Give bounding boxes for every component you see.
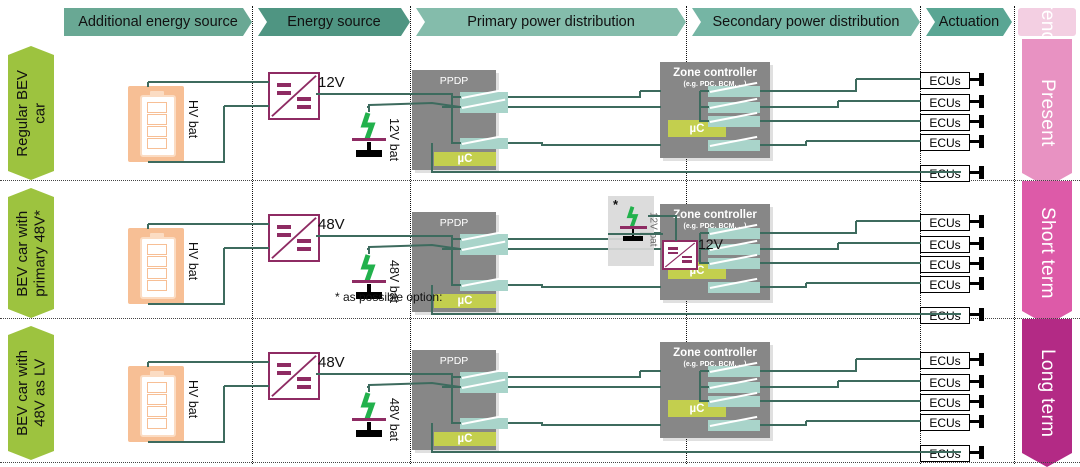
battery-icon [140,375,176,437]
actuator-load [979,395,984,408]
wire-zone-ecu-0 [855,359,857,372]
wire-ppdp-direct-ecu [431,423,433,453]
wire-ppdp-to-zone-3 [508,422,543,424]
converter-voltage-label-bev-48v-lv: 48V [318,354,345,371]
row-content-bev-48v-lv: HV bat48V48V batPPDPµCZone controller(e.… [0,0,1080,467]
battery-segment [147,394,167,405]
ecu-bev-48v-lv-4: ECUs [920,445,970,462]
wire-lvbat-riser [368,384,370,392]
wire-hv-to-converter-bottom [148,441,225,443]
wire-ppdp-tap0 [452,376,461,378]
wire-zone-ecu-0 [856,358,921,360]
wire-zone-ecu-0 [760,370,857,372]
wire-ppdp-to-zone-0 [508,376,641,378]
wire-zone-ecu-3 [806,420,921,422]
dcdc-converter-bev-48v-lv [268,352,320,400]
zone-controller-bev-48v-lv-title: Zone controller [660,347,770,359]
wire-converter-to-ppdp [316,373,453,375]
ecu-bev-48v-lv-0: ECUs [920,352,970,369]
battery-segment [147,418,167,429]
ppdp-switch-1 [460,382,508,393]
dcdc-ac-bar [277,371,291,375]
ecu-bev-48v-lv-2: ECUs [920,394,970,411]
zone-switch-3 [708,420,760,431]
wire-lvbat-to-ppdp [442,386,461,388]
wire-ppdp-to-zone-3 [542,424,661,426]
battery-segment [147,406,167,417]
dcdc-diagonal-icon [270,354,318,398]
wire-hv-to-converter-top [148,361,269,363]
hv-battery-bev-48v-lv [128,366,184,442]
wire-ppdp-to-zone-1 [586,386,661,388]
zone-switch-0 [708,366,760,377]
wire-hv-to-converter-top [147,362,149,367]
ppdp-uc-bev-48v-lv: µC [434,432,496,446]
lv-battery-base [356,430,382,437]
battery-segment [147,382,167,393]
ppdp-switch-2 [460,418,508,429]
wire-ppdp-bus [451,374,453,424]
zone-switch-1 [708,382,760,393]
lv-battery-bev-48v-lv [352,392,386,444]
wire-zone-ecu-1 [838,380,921,382]
dcdc-ac-bar [277,363,291,367]
wire-hv-to-converter-bottom [224,385,269,387]
actuator-load [979,375,984,388]
wire-ppdp-to-zone-0 [639,371,641,378]
wire-zone-ecu-1 [837,381,839,388]
wire-ppdp-to-zone-1 [508,386,587,388]
wire-zone-tap1 [700,386,709,388]
wire-zone-bus [700,400,709,402]
actuator-load [979,415,984,428]
wire-zone-tap0 [700,370,709,372]
wire-zone-ecu-3 [760,424,807,426]
ecu-bev-48v-lv-1: ECUs [920,374,970,391]
lv-battery-bolt-icon [352,392,386,420]
wire-zone-ecu-2 [822,400,921,402]
dcdc-dc-bar [297,385,311,389]
wire-ppdp-to-zone-0 [640,370,661,372]
wire-zone-ecu-1 [760,386,839,388]
lv-battery-plus-plate [352,418,386,421]
ppdp-bev-48v-lv-title: PPDP [412,355,496,367]
hv-battery-label: HV bat [186,380,200,418]
actuator-load [979,353,984,366]
actuator-load [979,446,984,459]
lv-battery-label: 48V bat [387,398,401,441]
wire-ppdp-bus [452,422,461,424]
dcdc-dc-bar [297,377,311,381]
wire-hv-to-converter-bottom [223,386,225,443]
diagram-canvas: Additional energy sourceEnergy sourcePri… [0,0,1080,467]
wire-direct-ecu-4 [920,451,961,453]
wire-zone-ecu-2 [760,400,823,402]
zone-switch-2 [708,396,760,407]
wire-ppdp-direct-ecu [432,451,961,453]
ecu-bev-48v-lv-3: ECUs [920,414,970,431]
